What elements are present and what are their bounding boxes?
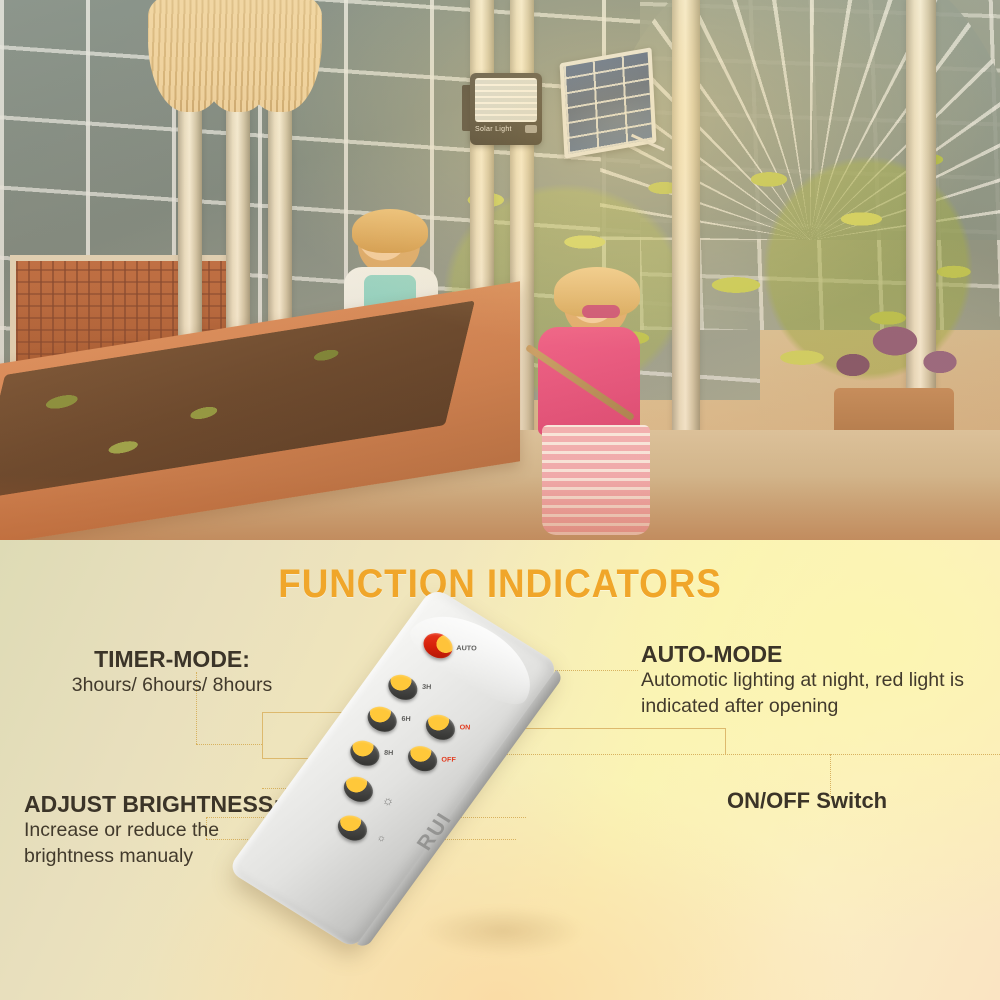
product-infographic-page: Solar Light FUNCTION INDICATORS	[0, 0, 1000, 1000]
remote-button-on[interactable]	[421, 710, 461, 745]
lifestyle-photo: Solar Light	[0, 0, 1000, 540]
remote-button-off-label: OFF	[441, 757, 456, 764]
sun-dim-icon: ☼	[375, 832, 387, 845]
remote-button-6h[interactable]	[362, 702, 402, 737]
child-right	[520, 275, 660, 540]
remote-button-brightness-up[interactable]	[339, 772, 379, 807]
remote-top-highlight	[401, 597, 549, 715]
remote-button-auto-label: AUTO	[456, 645, 477, 652]
on-off-switch-heading: ON/OFF Switch	[727, 788, 947, 815]
floodlight-brand-label: Solar Light	[475, 126, 512, 133]
floodlight-sensor-icon	[525, 125, 537, 133]
remote-control-illustration: RUI AUTO 3H ON 6H OFF 8H ☼ ☼	[268, 596, 728, 996]
remote-button-6h-label: 6H	[401, 716, 411, 723]
remote-button-8h-label: 8H	[384, 750, 394, 757]
product-overlay: Solar Light	[470, 55, 670, 165]
remote-button-8h[interactable]	[345, 736, 385, 771]
remote-button-off[interactable]	[403, 741, 443, 776]
solar-panel	[560, 47, 657, 158]
connector-timer-vert	[262, 712, 263, 758]
remote-button-on-label: ON	[459, 724, 470, 731]
remote-drop-shadow	[388, 896, 618, 966]
remote-control-body: RUI AUTO 3H ON 6H OFF 8H ☼ ☼	[227, 586, 560, 949]
remote-button-3h[interactable]	[383, 670, 423, 705]
pillar-6	[672, 0, 700, 500]
sun-bright-icon: ☼	[380, 792, 396, 809]
remote-button-3h-label: 3H	[422, 684, 432, 691]
floodlight-led-lens	[475, 78, 537, 122]
connector-timer-join	[196, 744, 262, 745]
callout-on-off-switch: ON/OFF Switch	[727, 788, 947, 815]
solar-flood-light: Solar Light	[470, 73, 542, 145]
remote-button-brightness-down[interactable]	[333, 810, 373, 845]
